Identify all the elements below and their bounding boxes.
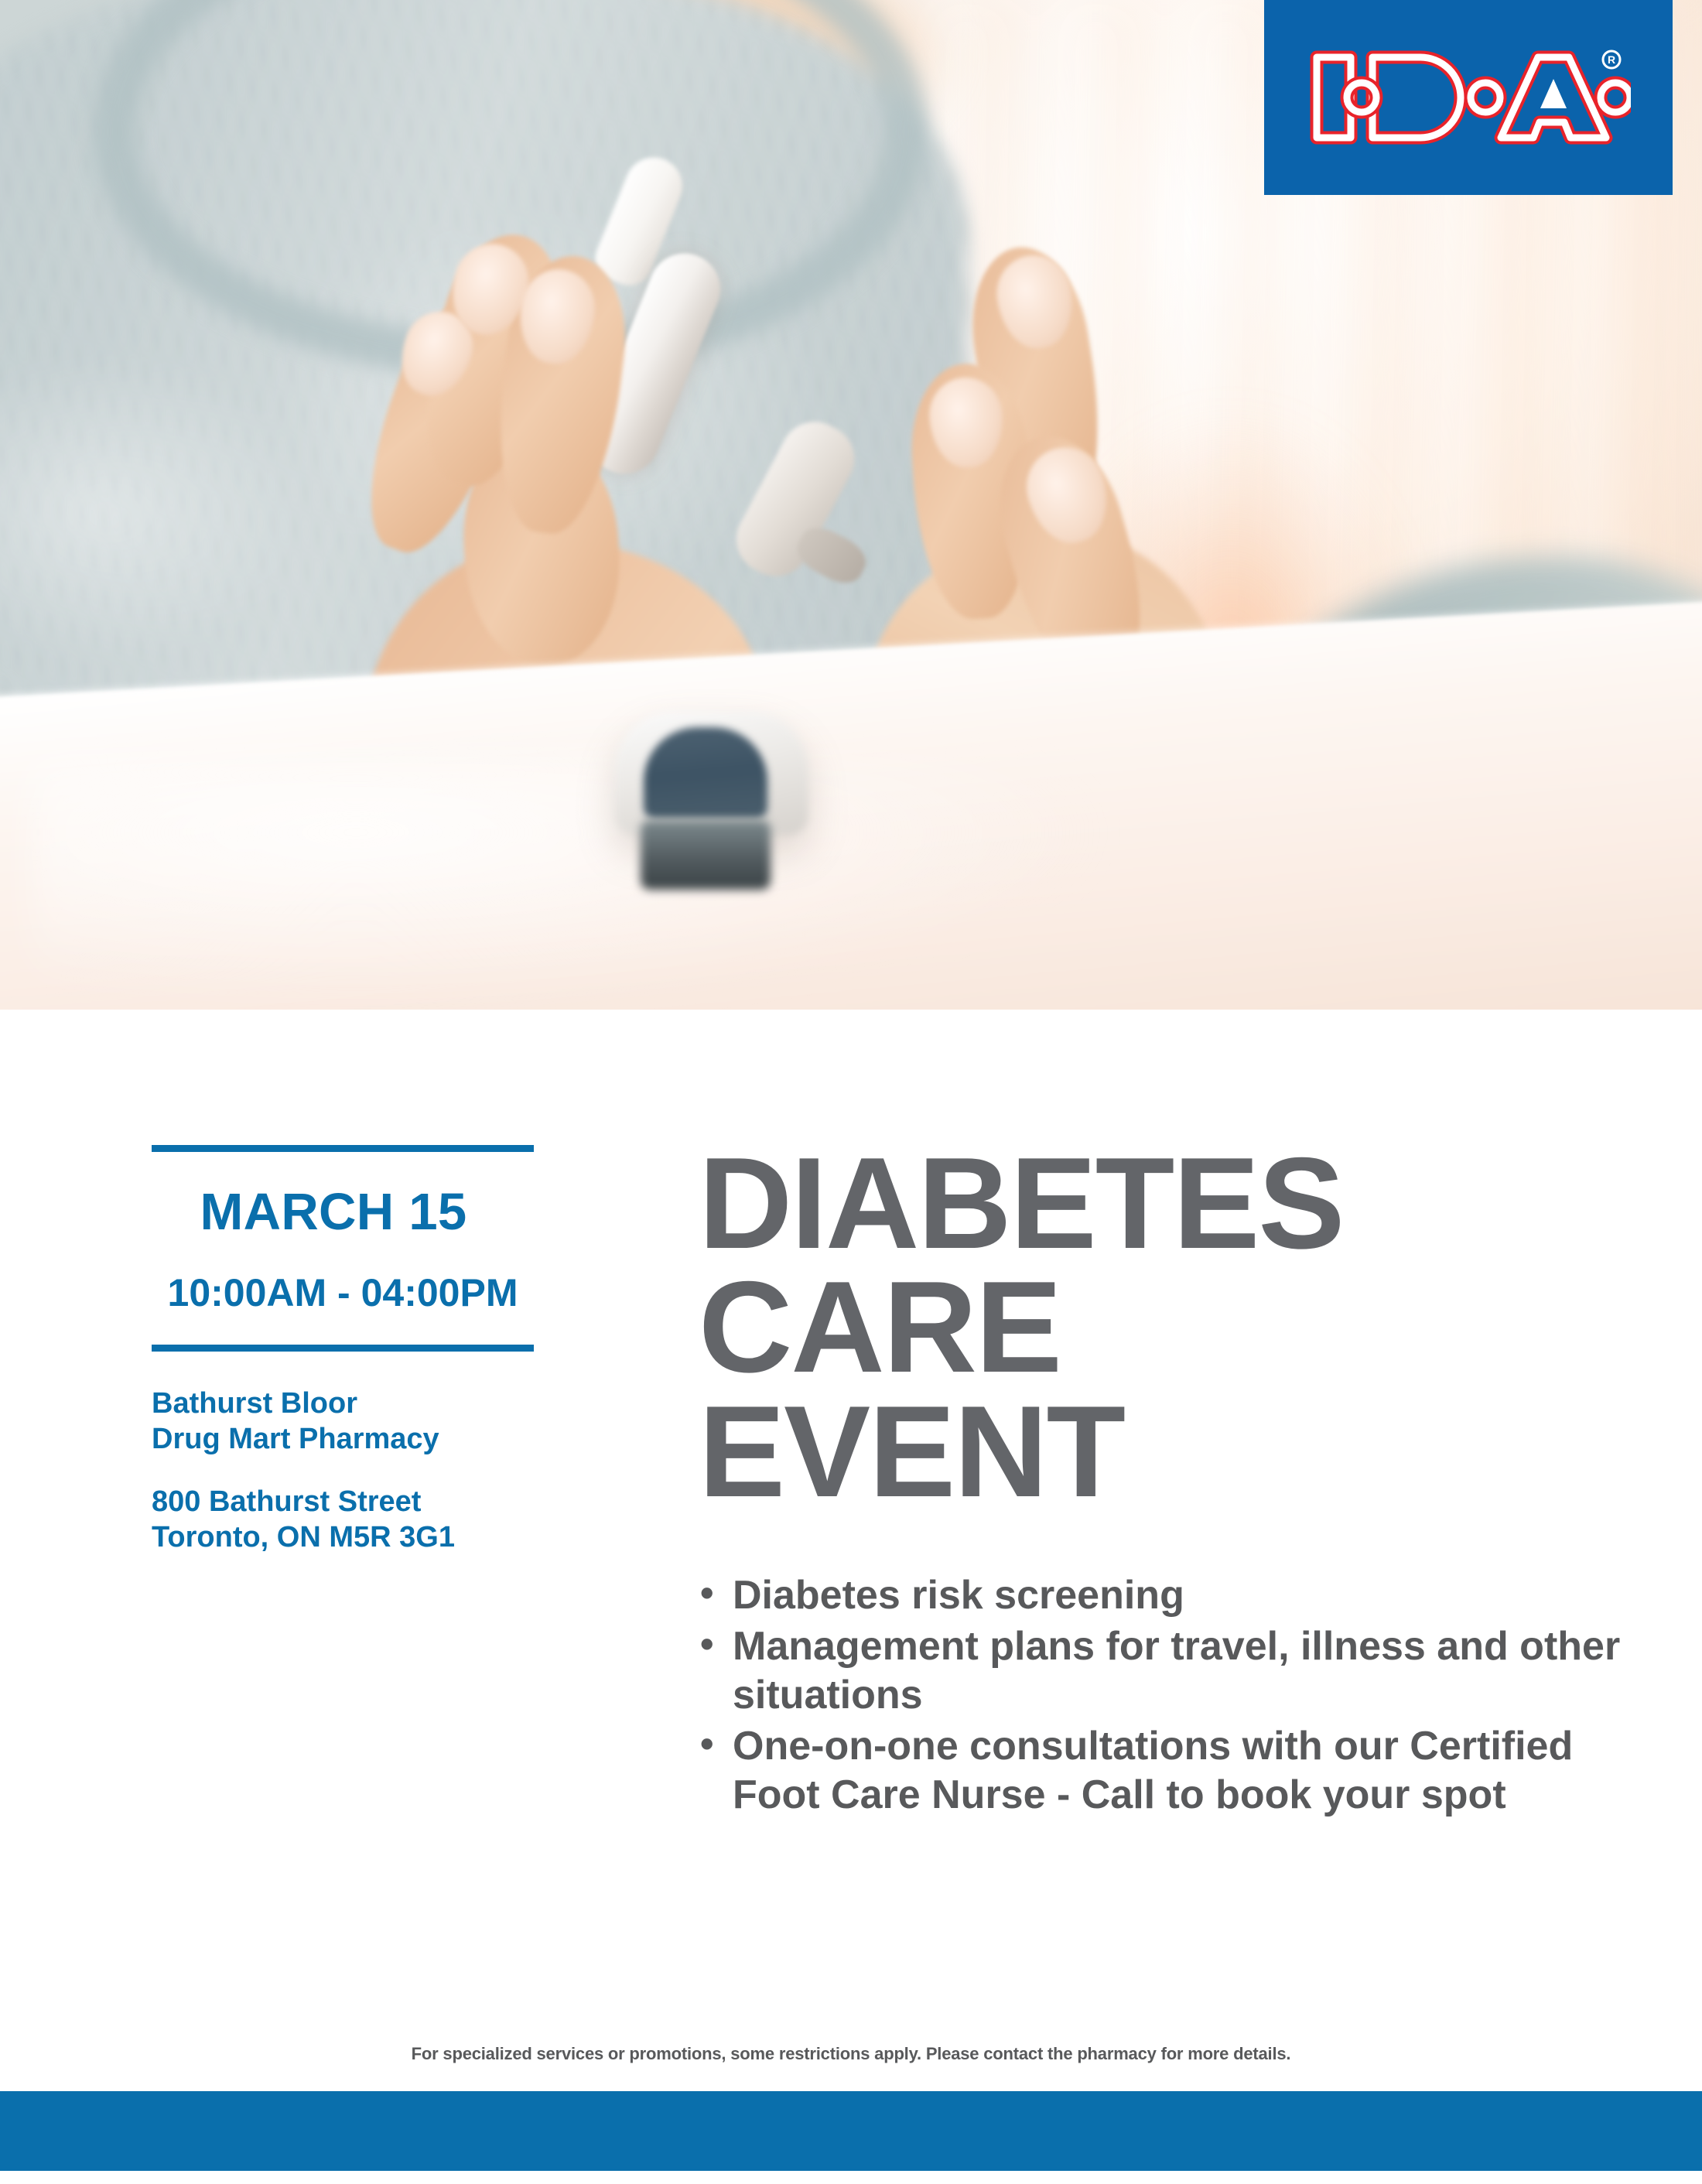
store-address-line-1: 800 Bathurst Street [152, 1484, 538, 1519]
headline-column: DIABETES CARE EVENT Diabetes risk screen… [699, 1141, 1627, 1822]
list-item: One-on-one consultations with our Certif… [699, 1722, 1627, 1820]
store-address: 800 Bathurst Street Toronto, ON M5R 3G1 [152, 1484, 538, 1556]
event-time: 10:00AM - 04:00PM [152, 1273, 534, 1312]
photo-table-sheen [31, 758, 1114, 1006]
svg-text:R: R [1608, 53, 1615, 66]
headline-line-1: DIABETES [699, 1141, 1627, 1265]
glucose-meter-base [641, 820, 771, 890]
glucose-meter-screen [644, 727, 767, 819]
content-area: MARCH 15 10:00AM - 04:00PM Bathurst Bloo… [0, 1010, 1702, 2089]
hero-photo: R [0, 0, 1702, 1010]
store-name-line-1: Bathurst Bloor [152, 1386, 538, 1421]
list-item: Management plans for travel, illness and… [699, 1622, 1627, 1721]
store-address-line-2: Toronto, ON M5R 3G1 [152, 1519, 538, 1555]
poster-flyer: R MARCH 15 10:00AM - 04:00PM Bathurst Bl… [0, 0, 1702, 2184]
ida-logo: R [1264, 0, 1673, 195]
services-list: Diabetes risk screening Management plans… [699, 1571, 1627, 1820]
ida-logo-icon: R [1306, 46, 1631, 149]
event-details-column: MARCH 15 10:00AM - 04:00PM Bathurst Bloo… [152, 1145, 538, 1555]
store-name-line-2: Drug Mart Pharmacy [152, 1421, 538, 1457]
headline-line-3: EVENT [699, 1389, 1627, 1513]
footer-bar [0, 2091, 1702, 2171]
event-date: MARCH 15 [152, 1186, 515, 1238]
disclaimer-text: For specialized services or promotions, … [0, 2044, 1702, 2064]
headline-line-2: CARE [699, 1265, 1627, 1389]
divider-rule-top [152, 1145, 534, 1152]
list-item: Diabetes risk screening [699, 1571, 1627, 1620]
page-title: DIABETES CARE EVENT [699, 1141, 1627, 1513]
divider-rule-bottom [152, 1345, 534, 1352]
store-name: Bathurst Bloor Drug Mart Pharmacy [152, 1386, 538, 1458]
